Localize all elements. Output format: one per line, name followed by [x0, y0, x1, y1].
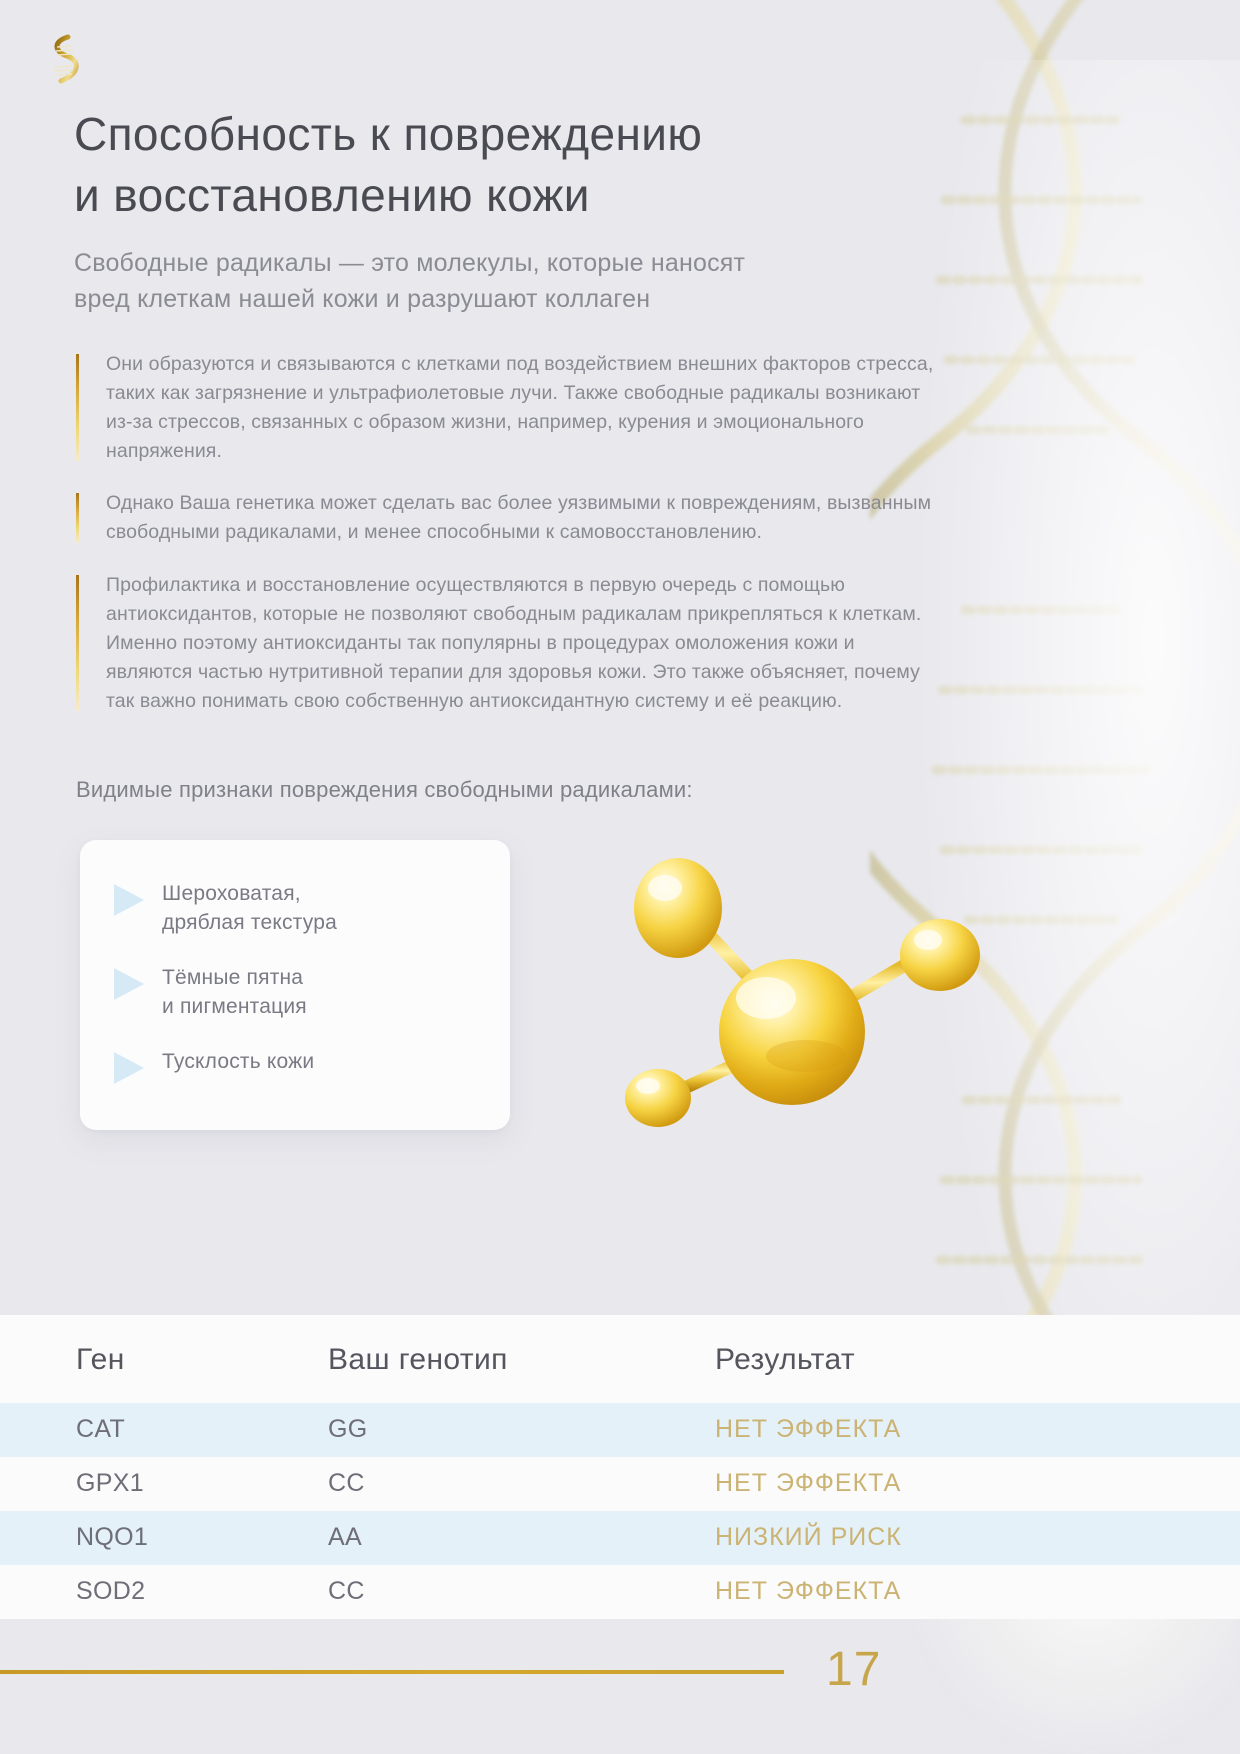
list-item-label: Тусклость кожи: [162, 1048, 314, 1077]
gene-results-section: Ген Ваш генотип Результат CAT GG НЕТ ЭФФ…: [0, 1315, 1240, 1619]
cell-result: НЕТ ЭФФЕКТА: [715, 1457, 1240, 1511]
dna-helix-icon: [46, 34, 82, 86]
table-row: NQO1 AA НИЗКИЙ РИСК: [0, 1511, 1240, 1565]
page-subtitle: Свободные радикалы — это молекулы, котор…: [74, 246, 954, 317]
background-glow: [920, 60, 1240, 1510]
visible-signs-card: Шероховатая, дряблая текстура Тёмные пят…: [80, 840, 510, 1130]
cell-result: НЕТ ЭФФЕКТА: [715, 1403, 1240, 1457]
table-row: CAT GG НЕТ ЭФФЕКТА: [0, 1403, 1240, 1457]
cell-gene: GPX1: [0, 1457, 315, 1511]
table-row: GPX1 CC НЕТ ЭФФЕКТА: [0, 1457, 1240, 1511]
cell-genotype: GG: [315, 1403, 715, 1457]
gold-accent-bar: [76, 354, 79, 461]
page-title: Способность к повреждению и восстановлен…: [74, 104, 974, 225]
list-item: Шероховатая, дряблая текстура: [114, 880, 480, 938]
paragraph-text: Они образуются и связываются с клетками …: [106, 350, 946, 465]
page-number: 17: [826, 1642, 881, 1697]
gold-accent-bar: [76, 575, 79, 711]
list-item-label: Шероховатая, дряблая текстура: [162, 880, 337, 938]
footer-gold-rule: [0, 1670, 784, 1674]
list-item-label: Тёмные пятна и пигментация: [162, 964, 307, 1022]
paragraph-text: Профилактика и восстановление осуществля…: [106, 571, 946, 715]
list-item-line-1: Шероховатая,: [162, 880, 337, 909]
paragraph-block: Профилактика и восстановление осуществля…: [76, 571, 946, 715]
triangle-right-icon: [114, 1052, 144, 1084]
page-title-line-2: и восстановлению кожи: [74, 165, 974, 226]
page-subtitle-line-1: Свободные радикалы — это молекулы, котор…: [74, 246, 954, 282]
column-header-genotype: Ваш генотип: [315, 1315, 715, 1403]
cell-gene: CAT: [0, 1403, 315, 1457]
cell-genotype: CC: [315, 1457, 715, 1511]
list-item: Тёмные пятна и пигментация: [114, 964, 480, 1022]
gold-accent-bar: [76, 493, 79, 543]
paragraph-block: Они образуются и связываются с клетками …: [76, 350, 946, 465]
list-item-line-2: и пигментация: [162, 993, 307, 1022]
paragraph-text: Однако Ваша генетика может сделать вас б…: [106, 489, 946, 547]
column-header-gene: Ген: [0, 1315, 315, 1403]
column-header-result: Результат: [715, 1315, 1240, 1403]
cell-result: НИЗКИЙ РИСК: [715, 1511, 1240, 1565]
visible-signs-label: Видимые признаки повреждения свободными …: [76, 777, 693, 803]
page-subtitle-line-2: вред клеткам нашей кожи и разрушают колл…: [74, 282, 954, 318]
paragraph-block: Однако Ваша генетика может сделать вас б…: [76, 489, 946, 547]
list-item-line-1: Тусклость кожи: [162, 1048, 314, 1077]
triangle-right-icon: [114, 884, 144, 916]
list-item-line-2: дряблая текстура: [162, 909, 337, 938]
cell-gene: NQO1: [0, 1511, 315, 1565]
gold-molecule-illustration: [560, 820, 1030, 1150]
page-footer: 17: [0, 1600, 1240, 1754]
report-page: Способность к повреждению и восстановлен…: [0, 0, 1240, 1754]
paragraph-list: Они образуются и связываются с клетками …: [76, 350, 946, 715]
table-header-row: Ген Ваш генотип Результат: [0, 1315, 1240, 1403]
list-item: Тусклость кожи: [114, 1048, 480, 1084]
list-item-line-1: Тёмные пятна: [162, 964, 307, 993]
gene-results-table: Ген Ваш генотип Результат CAT GG НЕТ ЭФФ…: [0, 1315, 1240, 1619]
cell-genotype: AA: [315, 1511, 715, 1565]
page-title-line-1: Способность к повреждению: [74, 104, 974, 165]
triangle-right-icon: [114, 968, 144, 1000]
